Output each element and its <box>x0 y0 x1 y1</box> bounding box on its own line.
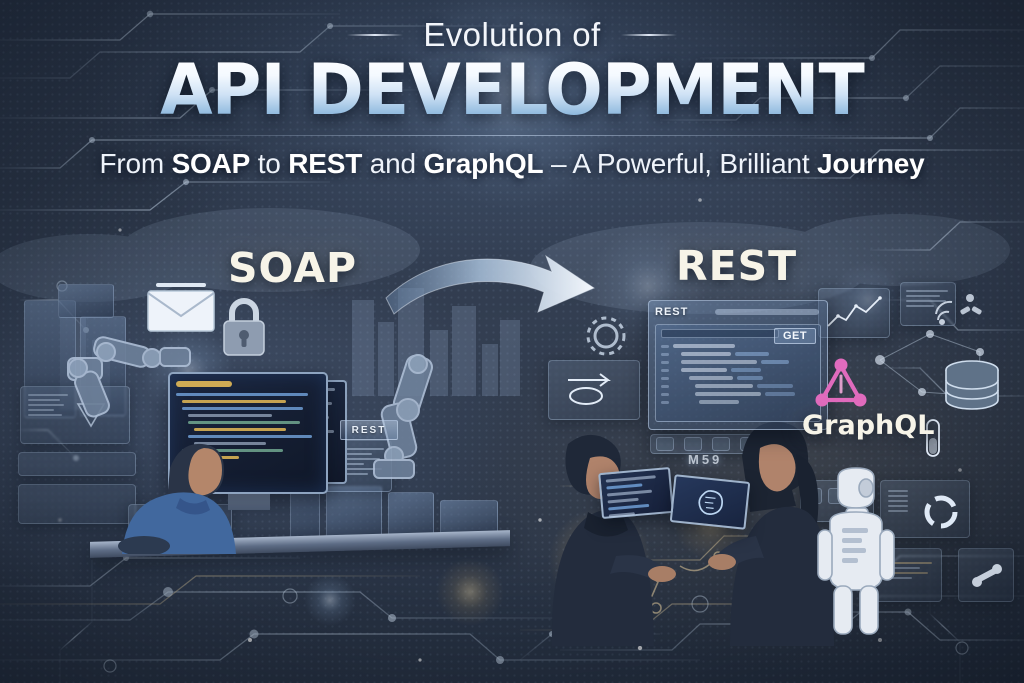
subtitle-seg-journey: Journey <box>809 148 924 179</box>
subtitle-seg-2: to <box>250 148 288 179</box>
rest-window-body: GET <box>655 324 821 422</box>
subtitle-seg-6: – A Powerful, <box>543 148 719 179</box>
graphql-logo-icon <box>812 358 870 416</box>
wrench-icon <box>968 558 1006 594</box>
laptop-screen-right[interactable] <box>670 474 751 530</box>
stage-label-graphql: GraphQL <box>802 410 934 441</box>
curved-arrow-icon <box>380 248 616 340</box>
hud-readout-text: M59 <box>688 452 722 467</box>
rule-left-decoration <box>347 34 403 36</box>
subtitle-seg-graphql: GraphQL <box>423 148 543 179</box>
subtitle-seg-4: and <box>362 148 423 179</box>
rest-code-block <box>661 344 815 404</box>
business-person-left <box>528 428 678 646</box>
subtitle-seg-7: Brilliant <box>719 148 809 179</box>
headline-block: Evolution of API DEVELOPMENT From SOAP t… <box>0 16 1024 180</box>
rest-sign-placard: REST <box>340 420 398 440</box>
robot-icon <box>812 466 898 636</box>
stage-label-soap: SOAP <box>228 244 357 292</box>
database-icon <box>940 358 1004 420</box>
envelope-icon <box>146 283 216 333</box>
ai-brain-icon <box>692 485 729 518</box>
get-method-button[interactable]: GET <box>774 328 816 344</box>
robot-arm-icon <box>352 352 480 482</box>
window-scrollbar[interactable] <box>715 309 819 315</box>
request-response-loop-icon <box>560 370 626 406</box>
stage-label-rest: REST <box>676 242 797 290</box>
developer-person <box>108 424 256 554</box>
rest-api-client-window[interactable]: REST GET <box>648 300 828 430</box>
robot-arm-icon <box>60 320 200 430</box>
page-title: API DEVELOPMENT <box>15 56 1008 125</box>
title-underline-decoration <box>117 135 907 136</box>
subtitle: From SOAP to REST and GraphQL – A Powerf… <box>0 148 1024 180</box>
poster-canvas: Evolution of API DEVELOPMENT From SOAP t… <box>0 0 1024 683</box>
subtitle-seg-soap: SOAP <box>172 148 251 179</box>
subtitle-seg-rest: REST <box>288 148 362 179</box>
padlock-icon <box>218 295 270 357</box>
endpoint-url-input[interactable] <box>661 329 779 338</box>
rule-right-decoration <box>621 34 677 36</box>
wifi-icon <box>930 286 984 328</box>
pie-chart-icon <box>918 490 964 534</box>
laptop-screen-left[interactable] <box>598 467 674 519</box>
subtitle-seg-0: From <box>99 148 171 179</box>
line-chart-icon <box>824 294 884 334</box>
